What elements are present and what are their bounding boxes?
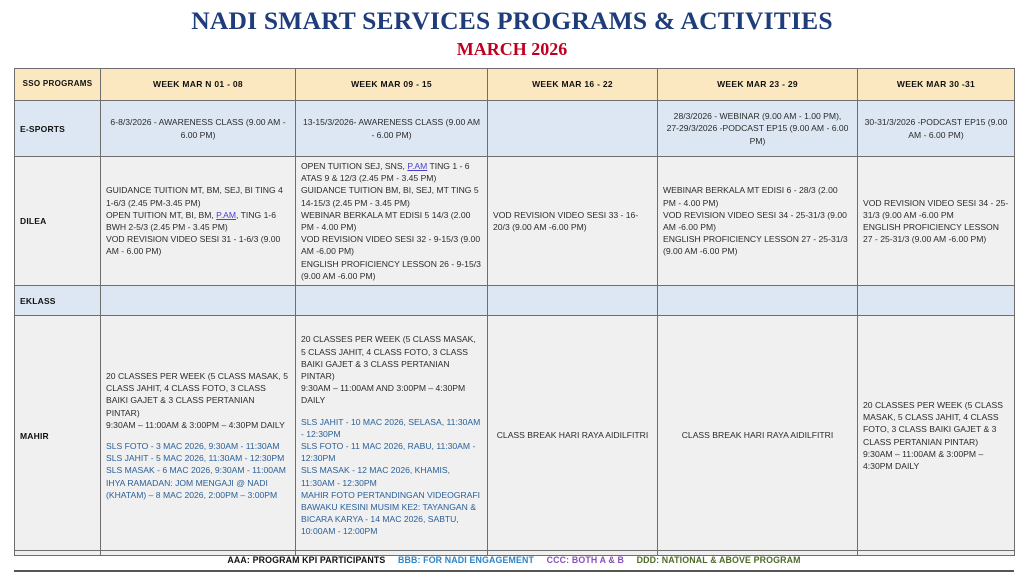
cell-esports-week2: 13-15/3/2026- AWARENESS CLASS (9.00 AM -… — [296, 101, 488, 157]
cell-text: 30-31/3/2026 -PODCAST EP15 (9.00 AM - 6.… — [863, 116, 1009, 140]
cell-text-secondary: SLS JAHIT - 10 MAC 2026, SELASA, 11:30AM… — [301, 416, 482, 538]
cell-dilea-week3: VOD REVISION VIDEO SESI 33 - 16-20/3 (9.… — [488, 157, 658, 286]
column-header-week-3: WEEK MAR 16 - 22 — [488, 69, 658, 101]
program-label-esports: E-SPORTS — [15, 101, 101, 157]
cell-text: CLASS BREAK HARI RAYA AIDILFITRI — [663, 429, 852, 441]
table-row-dilea: DILEA GUIDANCE TUITION MT, BM, SEJ, BI T… — [15, 157, 1015, 286]
cell-eklass-week1 — [101, 286, 296, 316]
cell-dilea-week4: WEBINAR BERKALA MT EDISI 6 - 28/3 (2.00 … — [658, 157, 858, 286]
legend-item-bbb: BBB: FOR NADI ENGAGEMENT — [398, 555, 534, 565]
cell-eklass-week4 — [658, 286, 858, 316]
program-label-dilea: DILEA — [15, 157, 101, 286]
cell-text: OPEN TUITION SEJ, SNS, P.AM TING 1 - 6 A… — [301, 160, 482, 282]
table-row-mahir: MAHIR 20 CLASSES PER WEEK (5 CLASS MASAK… — [15, 316, 1015, 556]
cell-esports-week3 — [488, 101, 658, 157]
cell-text: 20 CLASSES PER WEEK (5 CLASS MASAK, 5 CL… — [301, 333, 482, 406]
p-am-link[interactable]: P.AM — [216, 210, 236, 220]
cell-text-secondary: SLS FOTO - 3 MAC 2026, 9:30AM - 11:30AM … — [106, 440, 290, 501]
cell-text: 20 CLASSES PER WEEK (5 CLASS MASAK, 5 CL… — [106, 370, 290, 431]
page-subtitle: MARCH 2026 — [0, 39, 1024, 60]
column-header-week-4: WEEK MAR 23 - 29 — [658, 69, 858, 101]
cell-text: CLASS BREAK HARI RAYA AIDILFITRI — [493, 429, 652, 441]
cell-text: 13-15/3/2026- AWARENESS CLASS (9.00 AM -… — [301, 116, 482, 140]
cell-eklass-week3 — [488, 286, 658, 316]
page-title: NADI SMART SERVICES PROGRAMS & ACTIVITIE… — [0, 6, 1024, 35]
title-block: NADI SMART SERVICES PROGRAMS & ACTIVITIE… — [0, 0, 1024, 60]
cell-text: WEBINAR BERKALA MT EDISI 6 - 28/3 (2.00 … — [663, 184, 852, 257]
cell-esports-week5: 30-31/3/2026 -PODCAST EP15 (9.00 AM - 6.… — [858, 101, 1015, 157]
header-row: SSO PROGRAMS WEEK MAR N 01 - 08 WEEK MAR… — [15, 69, 1015, 101]
program-label-mahir: MAHIR — [15, 316, 101, 556]
column-header-sso-programs: SSO PROGRAMS — [15, 69, 101, 101]
column-header-week-5: WEEK MAR 30 -31 — [858, 69, 1015, 101]
cell-mahir-week5: 20 CLASSES PER WEEK (5 CLASS MASAK, 5 CL… — [858, 316, 1015, 556]
cell-eklass-week2 — [296, 286, 488, 316]
cell-text: 28/3/2026 - WEBINAR (9.00 AM - 1.00 PM),… — [663, 110, 852, 147]
cell-dilea-week5: VOD REVISION VIDEO SESI 34 - 25-31/3 (9.… — [858, 157, 1015, 286]
cell-text: GUIDANCE TUITION MT, BM, SEJ, BI TING 4 … — [106, 184, 290, 257]
schedule-table: SSO PROGRAMS WEEK MAR N 01 - 08 WEEK MAR… — [14, 68, 1015, 556]
cell-text: 6-8/3/2026 - AWARENESS CLASS (9.00 AM - … — [106, 116, 290, 140]
cell-mahir-week2: 20 CLASSES PER WEEK (5 CLASS MASAK, 5 CL… — [296, 316, 488, 556]
legend-footer: AAA: PROGRAM KPI PARTICIPANTS BBB: FOR N… — [14, 550, 1014, 572]
cell-text: VOD REVISION VIDEO SESI 34 - 25-31/3 (9.… — [863, 197, 1009, 246]
cell-eklass-week5 — [858, 286, 1015, 316]
cell-mahir-week1: 20 CLASSES PER WEEK (5 CLASS MASAK, 5 CL… — [101, 316, 296, 556]
table-row-esports: E-SPORTS 6-8/3/2026 - AWARENESS CLASS (9… — [15, 101, 1015, 157]
cell-esports-week1: 6-8/3/2026 - AWARENESS CLASS (9.00 AM - … — [101, 101, 296, 157]
legend-item-ddd: DDD: NATIONAL & ABOVE PROGRAM — [637, 555, 801, 565]
table-header: SSO PROGRAMS WEEK MAR N 01 - 08 WEEK MAR… — [15, 69, 1015, 101]
p-am-link[interactable]: P.AM — [407, 161, 427, 171]
cell-mahir-week4: CLASS BREAK HARI RAYA AIDILFITRI — [658, 316, 858, 556]
column-header-week-2: WEEK MAR 09 - 15 — [296, 69, 488, 101]
cell-dilea-week1: GUIDANCE TUITION MT, BM, SEJ, BI TING 4 … — [101, 157, 296, 286]
cell-mahir-week3: CLASS BREAK HARI RAYA AIDILFITRI — [488, 316, 658, 556]
table-body: E-SPORTS 6-8/3/2026 - AWARENESS CLASS (9… — [15, 101, 1015, 556]
column-header-week-1: WEEK MAR N 01 - 08 — [101, 69, 296, 101]
schedule-page: NADI SMART SERVICES PROGRAMS & ACTIVITIE… — [0, 0, 1024, 576]
legend-item-ccc: CCC: BOTH A & B — [547, 555, 624, 565]
cell-dilea-week2: OPEN TUITION SEJ, SNS, P.AM TING 1 - 6 A… — [296, 157, 488, 286]
cell-text: 20 CLASSES PER WEEK (5 CLASS MASAK, 5 CL… — [863, 399, 1009, 472]
table-row-eklass: EKLASS — [15, 286, 1015, 316]
cell-esports-week4: 28/3/2026 - WEBINAR (9.00 AM - 1.00 PM),… — [658, 101, 858, 157]
cell-text: VOD REVISION VIDEO SESI 33 - 16-20/3 (9.… — [493, 209, 652, 233]
legend-item-aaa: AAA: PROGRAM KPI PARTICIPANTS — [227, 555, 385, 565]
program-label-eklass: EKLASS — [15, 286, 101, 316]
